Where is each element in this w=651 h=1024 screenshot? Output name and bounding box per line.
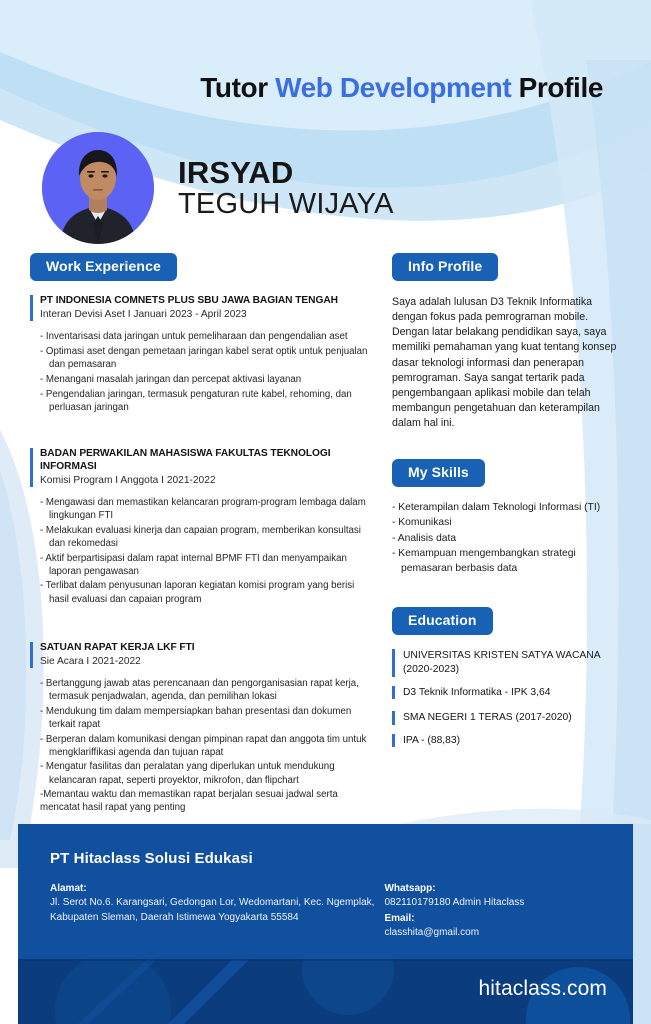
education-item: D3 Teknik Informatika - IPK 3,64: [392, 686, 624, 700]
education-item: UNIVERSITAS KRISTEN SATYA WACANA (2020-2…: [392, 649, 624, 676]
profile-poster: Tutor Web Development Profile: [0, 0, 651, 1024]
work-entry: BADAN PERWAKILAN MAHASISWA FAKULTAS TEKN…: [30, 448, 370, 606]
bullet-item: - Melakukan evaluasi kinerja dan capaian…: [40, 524, 370, 550]
title-prefix: Tutor: [200, 72, 275, 103]
bullet-item: -Memantau waktu dan memastikan rapat ber…: [40, 788, 370, 814]
bullet-item: - Pengendalian jaringan, termasuk pengat…: [40, 388, 370, 414]
education-school: UNIVERSITAS KRISTEN SATYA WACANA (2020-2…: [403, 649, 624, 676]
work-entry: PT INDONESIA COMNETS PLUS SBU JAWA BAGIA…: [30, 295, 370, 414]
work-experience-badge-wrap: Work Experience: [30, 253, 370, 281]
footer-address-column: Alamat: Jl. Serot No.6. Karangsari, Gedo…: [50, 881, 384, 940]
avatar: [42, 132, 154, 244]
info-profile-badge: Info Profile: [392, 253, 498, 281]
bullet-item: - Bertanggung jawab atas perencanaan dan…: [40, 677, 370, 703]
work-entry-bullets: - Inventarisasi data jaringan untuk peme…: [30, 330, 370, 414]
work-entry-org: BADAN PERWAKILAN MAHASISWA FAKULTAS TEKN…: [40, 448, 370, 474]
info-profile-badge-wrap: Info Profile: [392, 253, 624, 281]
address-label: Alamat:: [50, 881, 384, 896]
education-school: SMA NEGERI 1 TERAS (2017-2020): [403, 711, 624, 725]
footer-company-name: PT Hitaclass Solusi Edukasi: [50, 850, 603, 867]
info-profile-text: Saya adalah lulusan D3 Teknik Informatik…: [392, 295, 624, 430]
work-entry-org: SATUAN RAPAT KERJA LKF FTI: [40, 642, 370, 655]
whatsapp-label: Whatsapp:: [384, 881, 603, 896]
work-entry-role: Komisi Program I Anggota I 2021-2022: [40, 474, 370, 487]
address-value: Jl. Serot No.6. Karangsari, Gedongan Lor…: [50, 896, 384, 925]
skills-list: - Keterampilan dalam Teknologi Informasi…: [392, 501, 624, 576]
bullet-item: - Berperan dalam komunikasi dengan pimpi…: [40, 733, 370, 759]
work-entry-head: BADAN PERWAKILAN MAHASISWA FAKULTAS TEKN…: [30, 448, 370, 487]
title-accent: Web Development: [275, 72, 511, 103]
work-entry-org: PT INDONESIA COMNETS PLUS SBU JAWA BAGIA…: [40, 295, 370, 308]
my-skills-badge-wrap: My Skills: [392, 459, 624, 487]
footer-contact-band: PT Hitaclass Solusi Edukasi Alamat: Jl. …: [18, 824, 633, 959]
bullet-item: - Mengatur fasilitas dan peralatan yang …: [40, 760, 370, 786]
education-detail: D3 Teknik Informatika - IPK 3,64: [403, 686, 624, 700]
education-badge-wrap: Education: [392, 607, 624, 635]
work-entry: SATUAN RAPAT KERJA LKF FTI Sie Acara I 2…: [30, 642, 370, 815]
brand-url: hitaclass.com: [478, 977, 607, 1001]
my-skills-badge: My Skills: [392, 459, 485, 487]
page-title: Tutor Web Development Profile: [0, 72, 651, 104]
education-item: SMA NEGERI 1 TERAS (2017-2020): [392, 711, 624, 725]
education-detail: IPA - (88,83): [403, 734, 624, 748]
education-item: IPA - (88,83): [392, 734, 624, 748]
work-entry-role: Interan Devisi Aset I Januari 2023 - Apr…: [40, 308, 370, 321]
bullet-item: - Aktif berpartisipasi dalam rapat inter…: [40, 552, 370, 578]
avatar-portrait-icon: [42, 132, 154, 244]
footer-columns: Alamat: Jl. Serot No.6. Karangsari, Gedo…: [50, 881, 603, 940]
bullet-item: - Terlibat dalam penyusunan laporan kegi…: [40, 579, 370, 605]
bullet-item: - Menangani masalah jaringan dan percepa…: [40, 373, 370, 386]
last-name: TEGUH WIJAYA: [178, 189, 394, 219]
right-column: Info Profile Saya adalah lulusan D3 Tekn…: [392, 253, 624, 756]
skill-item: - Komunikasi: [392, 516, 624, 530]
identity-block: IRSYAD TEGUH WIJAYA: [42, 132, 394, 244]
footer-contact-column: Whatsapp: 082110179180 Admin Hitaclass E…: [384, 881, 603, 940]
skill-item: - Keterampilan dalam Teknologi Informasi…: [392, 501, 624, 515]
footer-brand-band: hitaclass.com: [18, 959, 633, 1024]
bullet-item: - Mendukung tim dalam mempersiapkan baha…: [40, 705, 370, 731]
footer-inner: PT Hitaclass Solusi Edukasi Alamat: Jl. …: [18, 824, 633, 940]
education-badge: Education: [392, 607, 493, 635]
skill-item: - Kemampuan mengembangkan strategi pemas…: [392, 547, 624, 576]
work-experience-badge: Work Experience: [30, 253, 177, 281]
work-entry-head: SATUAN RAPAT KERJA LKF FTI Sie Acara I 2…: [30, 642, 370, 668]
work-entry-bullets: - Bertanggung jawab atas perencanaan dan…: [30, 677, 370, 815]
left-column: Work Experience PT INDONESIA COMNETS PLU…: [30, 253, 370, 829]
bullet-item: - Inventarisasi data jaringan untuk peme…: [40, 330, 370, 343]
name-block: IRSYAD TEGUH WIJAYA: [178, 157, 394, 219]
bullet-item: - Optimasi aset dengan pemetaan jaringan…: [40, 345, 370, 371]
skill-item: - Analisis data: [392, 532, 624, 546]
work-entry-role: Sie Acara I 2021-2022: [40, 655, 370, 668]
email-value[interactable]: classhita@gmail.com: [384, 926, 603, 941]
first-name: IRSYAD: [178, 157, 394, 189]
email-label: Email:: [384, 911, 603, 926]
bullet-item: - Mengawasi dan memastikan kelancaran pr…: [40, 496, 370, 522]
work-entry-head: PT INDONESIA COMNETS PLUS SBU JAWA BAGIA…: [30, 295, 370, 321]
whatsapp-value[interactable]: 082110179180 Admin Hitaclass: [384, 896, 603, 911]
title-suffix: Profile: [511, 72, 603, 103]
work-entry-bullets: - Mengawasi dan memastikan kelancaran pr…: [30, 496, 370, 606]
